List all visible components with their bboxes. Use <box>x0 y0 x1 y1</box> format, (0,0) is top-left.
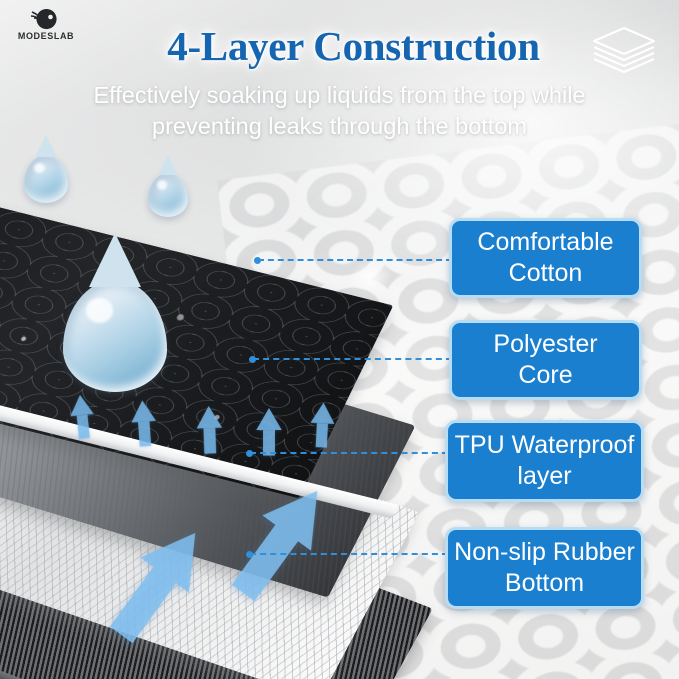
callout-polyester-core: Polyester Core <box>449 320 642 400</box>
callout-line-2: Bottom <box>505 569 584 597</box>
airflow-arrow-icon <box>68 394 93 417</box>
leader-line-polyester <box>253 358 452 360</box>
callout-comfortable-cotton: Comfortable Cotton <box>449 218 642 298</box>
callout-line-1: Polyester <box>493 330 597 358</box>
callout-line-1: Non-slip Rubber <box>454 538 635 566</box>
callout-line-2: layer <box>517 462 571 490</box>
page-subtitle: Effectively soaking up liquids from the … <box>40 80 639 142</box>
airflow-arrow-icon <box>310 402 335 424</box>
airflow-arrow-icon <box>130 400 156 423</box>
leader-line-rubber <box>250 553 448 555</box>
layers-stack-icon <box>588 24 660 76</box>
product-infographic: MODESLAB 4-Layer Construction Effectivel… <box>0 0 679 679</box>
airflow-arrow-icon <box>256 408 282 430</box>
callout-line-1: Comfortable <box>477 228 613 256</box>
callout-line-1: TPU Waterproof <box>455 431 635 459</box>
callout-non-slip-rubber-bottom: Non-slip Rubber Bottom <box>445 527 644 609</box>
airflow-arrow-icon <box>196 406 222 429</box>
callout-line-2: Core <box>518 361 572 389</box>
leader-line-tpu <box>250 452 448 454</box>
leader-line-cotton <box>258 259 452 261</box>
page-title: 4-Layer Construction <box>0 22 679 70</box>
callout-tpu-waterproof-layer: TPU Waterproof layer <box>445 420 644 502</box>
callout-line-2: Cotton <box>509 259 583 287</box>
